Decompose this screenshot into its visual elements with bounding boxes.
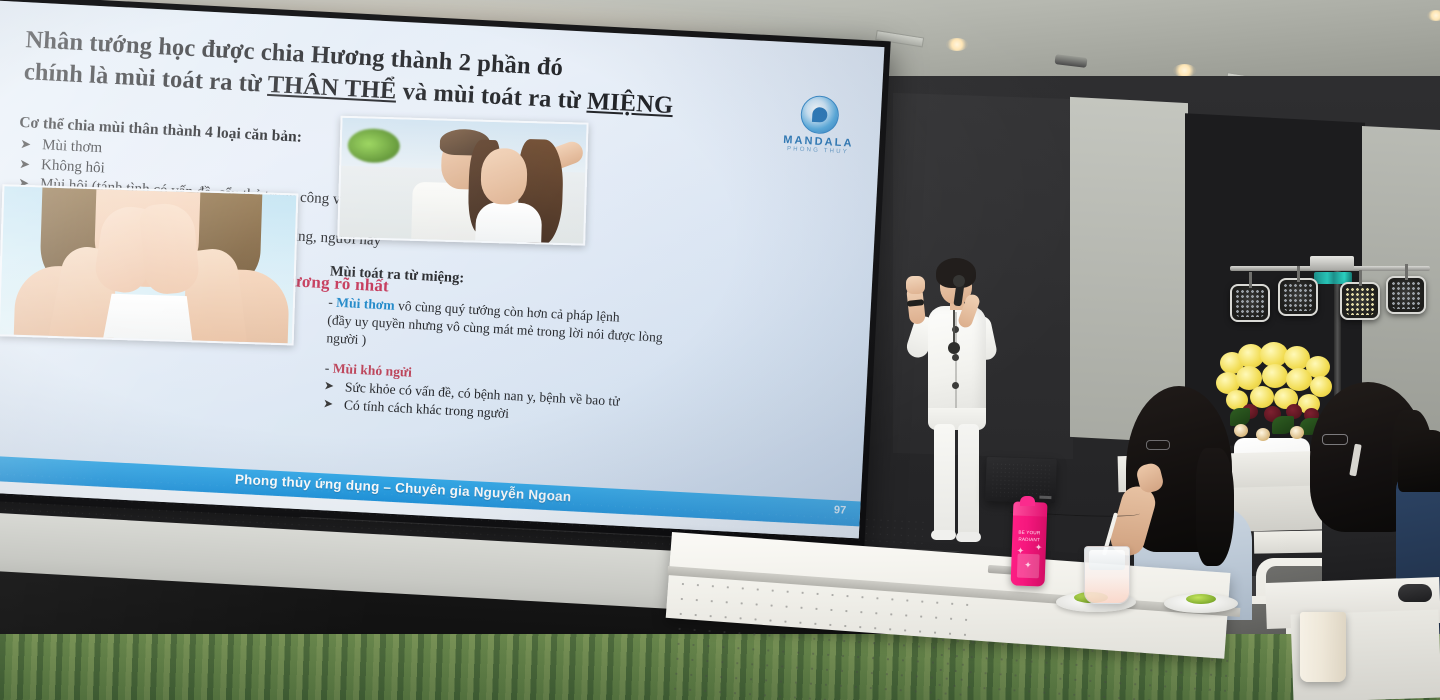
glasses-icon [1322,434,1348,445]
presenter-shoe [956,532,981,542]
par-light-icon [1278,278,1318,316]
projection-screen-surface: Nhân tướng học được chia Hương thành 2 p… [0,0,884,538]
slide-title-line-2-part-b: và mùi toát ra từ [396,78,588,115]
ceiling-downlight-icon [1427,10,1440,21]
speaker-badge [1039,496,1051,499]
computer-mouse [1398,584,1432,602]
person-hair [1398,430,1440,492]
accent-text-red: Mùi khó ngửi [332,361,412,380]
presenter-pendant [948,342,960,354]
presenter-shoe [931,530,956,540]
microphone-head-icon [953,275,965,287]
tumbler-label-panel [1017,554,1040,579]
conference-room-photo: Nhân tướng học được chia Hương thành 2 p… [0,0,1440,700]
presenter-leg [934,424,955,536]
projection-screen[interactable]: Nhân tướng học được chia Hương thành 2 p… [0,0,891,547]
lighting-controller [1310,256,1354,270]
paper-cup [1300,612,1346,682]
presenter-leg [958,424,979,538]
slide-title-underline-than-the: THÂN THỂ [267,71,397,105]
arrow-bullet-icon: ➤ [19,154,34,173]
stage-monitor-speaker [985,457,1056,503]
slide-title-underline-mieng: MIỆNG [586,88,674,119]
slide-title: Nhân tướng học được chia Hương thành 2 p… [23,24,815,130]
iced-drink-cup [1084,546,1130,604]
drink-ice [1089,550,1125,570]
slide-right-column: Mùi toát ra từ miệng: - Mùi thơm vô cùng… [323,262,800,437]
ceiling-fixture [1055,54,1088,68]
presenter-torso [928,306,986,424]
glasses-icon [1146,440,1170,450]
presenter [900,258,1020,548]
arrow-bullet-icon: ➤ [323,395,338,413]
accent-text-blue: Mùi thơm [336,295,395,313]
presenter-lanyard [953,308,955,344]
couple-photo [337,116,588,246]
woman-covering-mouth-photo [0,184,298,345]
presenter-fist [906,276,925,294]
person-hair [1196,448,1234,566]
mandala-logo: MANDALA PHONG THUY [777,94,862,156]
pink-tumbler: BE YOUR RADIANT ✦ ✦ ✦ [1011,501,1048,586]
food-item [1186,594,1216,604]
ceiling-downlight-icon [946,38,968,51]
par-light-icon [1230,284,1270,322]
presentation-slide: Nhân tướng học được chia Hương thành 2 p… [0,0,884,538]
table-front-modesty-panel [667,576,975,700]
par-light-icon [1340,282,1380,320]
mandala-emblem-icon [800,95,840,135]
par-light-icon [1386,276,1426,314]
speaker-grille [990,462,1051,498]
arrow-bullet-icon: ➤ [324,377,339,395]
tumbler-spout [1020,496,1035,506]
arrow-bullet-icon: ➤ [20,135,35,154]
